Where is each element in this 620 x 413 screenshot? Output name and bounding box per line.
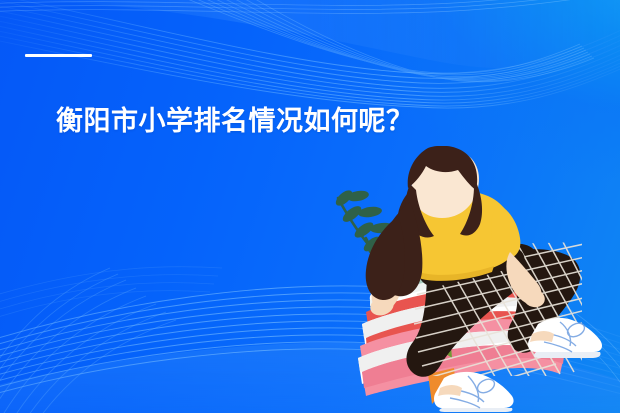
page-title: 衡阳市小学排名情况如何呢？: [56, 104, 414, 138]
banner-root: 衡阳市小学排名情况如何呢？: [0, 0, 620, 413]
accent-rule: [25, 54, 92, 57]
hero-illustration: [322, 146, 620, 413]
